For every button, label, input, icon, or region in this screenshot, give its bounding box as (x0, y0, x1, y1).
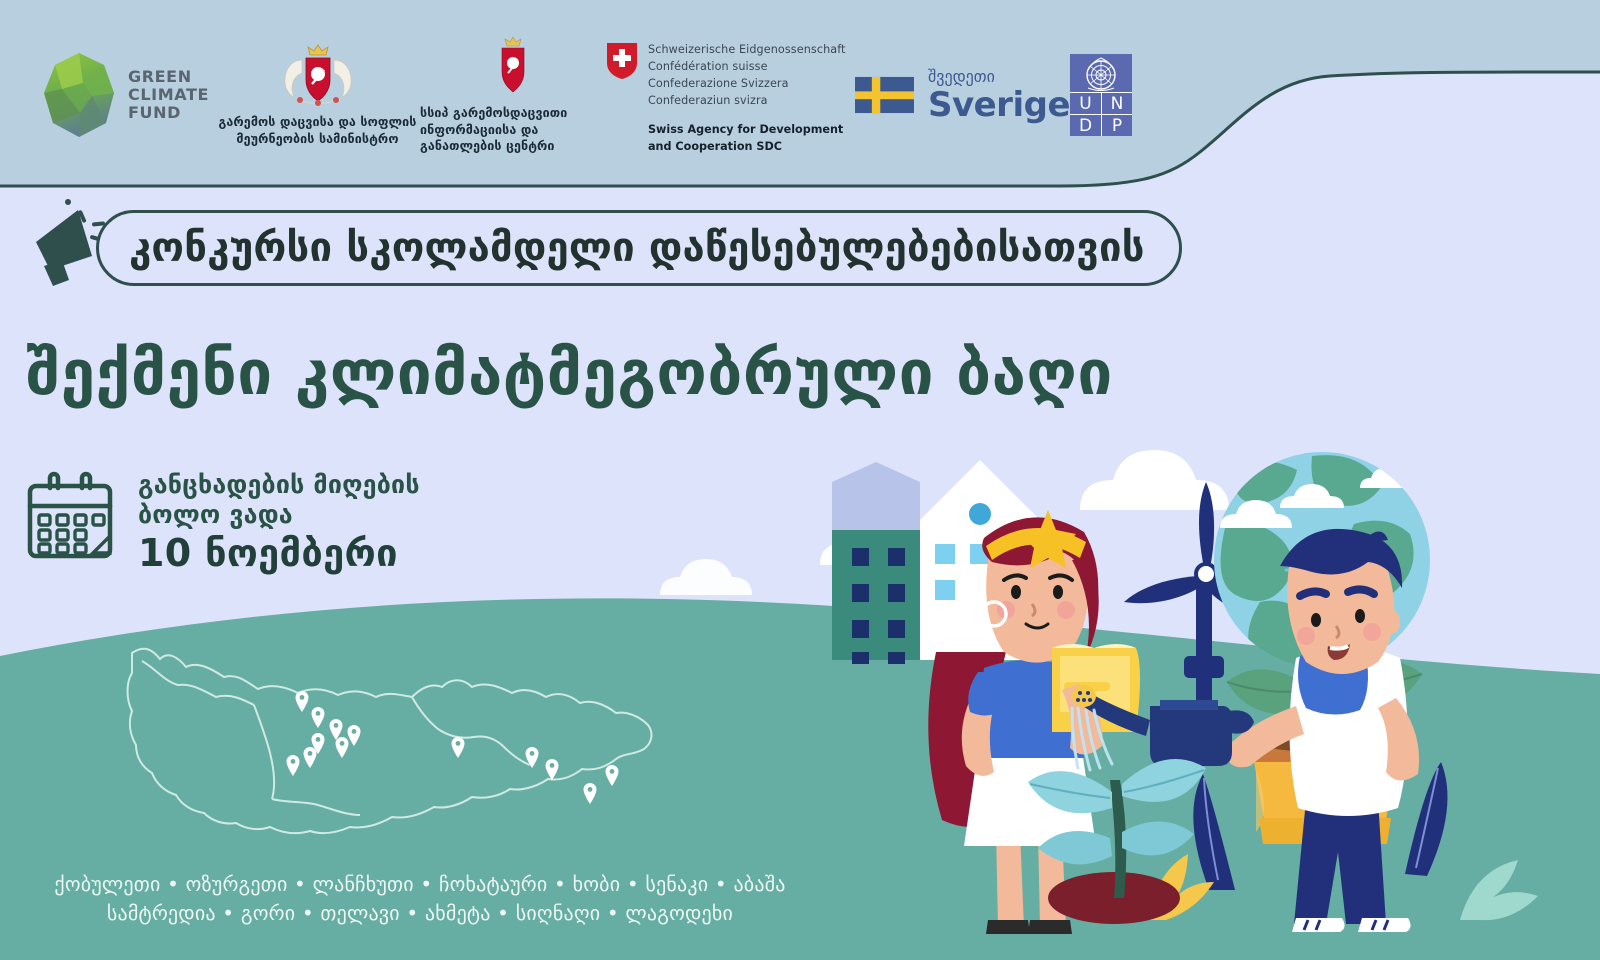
eyebrow-pill: კონკურსი სკოლამდელი დაწესებულებებისათვის (96, 210, 1182, 286)
poster-canvas: GREEN CLIMATE FUND (0, 0, 1600, 960)
swedish-flag-icon (855, 65, 914, 125)
logo-swiss-cooperation: Schweizerische Eidgenossenschaft Confédé… (605, 35, 855, 155)
un-emblem-icon (1070, 55, 1132, 95)
swiss-line-fr: Confédération suisse (648, 58, 846, 75)
gcf-polygon-icon (40, 49, 118, 141)
eyebrow-text: კონკურსი სკოლამდელი დაწესებულებებისათვის (129, 228, 1145, 268)
gcf-line-1: GREEN (128, 68, 209, 86)
illustration-kids-planting (660, 420, 1600, 960)
undp-letter-n: N (1101, 92, 1132, 114)
centre-name: სსიპ გარემოსდაცვითი ინფორმაციისა და განა… (420, 105, 605, 156)
undp-letter-p: P (1101, 114, 1132, 136)
deadline-date: 10 ნოემბერი (138, 532, 420, 576)
location-pin-icon (544, 759, 560, 780)
location-pin-icon (604, 765, 620, 786)
gcf-wordmark: GREEN CLIMATE FUND (128, 68, 209, 122)
partner-logo-bar: GREEN CLIMATE FUND (0, 0, 1210, 190)
sweden-label-latin: Sverige (928, 88, 1070, 122)
swiss-names: Schweizerische Eidgenossenschaft Confédé… (648, 41, 846, 109)
deadline-text: განცხადების მიღების ბოლო ვადა 10 ნოემბერ… (138, 466, 420, 576)
deadline-block: განცხადების მიღების ბოლო ვადა 10 ნოემბერ… (24, 466, 420, 576)
deadline-label-line-1: განცხადების მიღების (138, 470, 420, 500)
georgia-coat-of-arms-icon (262, 42, 374, 110)
sweden-label-ka: შვედეთი (928, 69, 1070, 85)
apartment-building (832, 462, 920, 664)
gcf-line-2: CLIMATE (128, 86, 209, 104)
ministry-name: გარემოს დაცვისა და სოფლის მეურნეობის სამ… (215, 114, 420, 148)
georgia-map (120, 625, 660, 895)
logo-undp: U N D P (1070, 54, 1140, 136)
location-pin-icon (294, 691, 310, 712)
undp-box: U N D P (1070, 54, 1132, 136)
seedling (1028, 759, 1206, 924)
calendar-icon (24, 470, 116, 562)
page-title: შექმენი კლიმატმეგობრული ბაღი (26, 340, 1266, 406)
location-pin-icon (334, 737, 350, 758)
swiss-line-rm: Confederaziun svizra (648, 92, 846, 109)
swiss-line-it: Confederazione Svizzera (648, 75, 846, 92)
swiss-agency-line-2: and Cooperation SDC (648, 139, 846, 155)
swiss-line-de: Schweizerische Eidgenossenschaft (648, 41, 846, 58)
location-pin-icon (310, 707, 326, 728)
location-pin-icon (285, 755, 301, 776)
undp-letters: U N D P (1070, 92, 1132, 136)
location-pin-icon (582, 783, 598, 804)
deadline-label-line-2: ბოლო ვადა (138, 500, 420, 530)
logo-ministry-of-environment: გარემოს დაცვისა და სოფლის მეურნეობის სამ… (215, 42, 420, 148)
swiss-shield-icon (605, 41, 639, 81)
gcf-line-3: FUND (128, 104, 209, 122)
logo-environmental-info-centre: სსიპ გარემოსდაცვითი ინფორმაციისა და განა… (420, 35, 605, 156)
logo-sweden: შვედეთი Sverige (855, 65, 1070, 125)
georgia-outline-icon (120, 625, 660, 895)
swiss-agency-line-1: Swiss Agency for Development (648, 122, 846, 138)
swiss-agency-name: Swiss Agency for Development and Coopera… (648, 122, 846, 154)
georgia-small-coat-of-arms-icon (492, 35, 534, 101)
undp-letter-d: D (1070, 114, 1101, 136)
location-pin-icon (302, 747, 318, 768)
undp-letter-u: U (1070, 92, 1101, 114)
location-pin-icon (524, 747, 540, 768)
logo-green-climate-fund: GREEN CLIMATE FUND (40, 49, 215, 141)
location-pin-icon (450, 737, 466, 758)
